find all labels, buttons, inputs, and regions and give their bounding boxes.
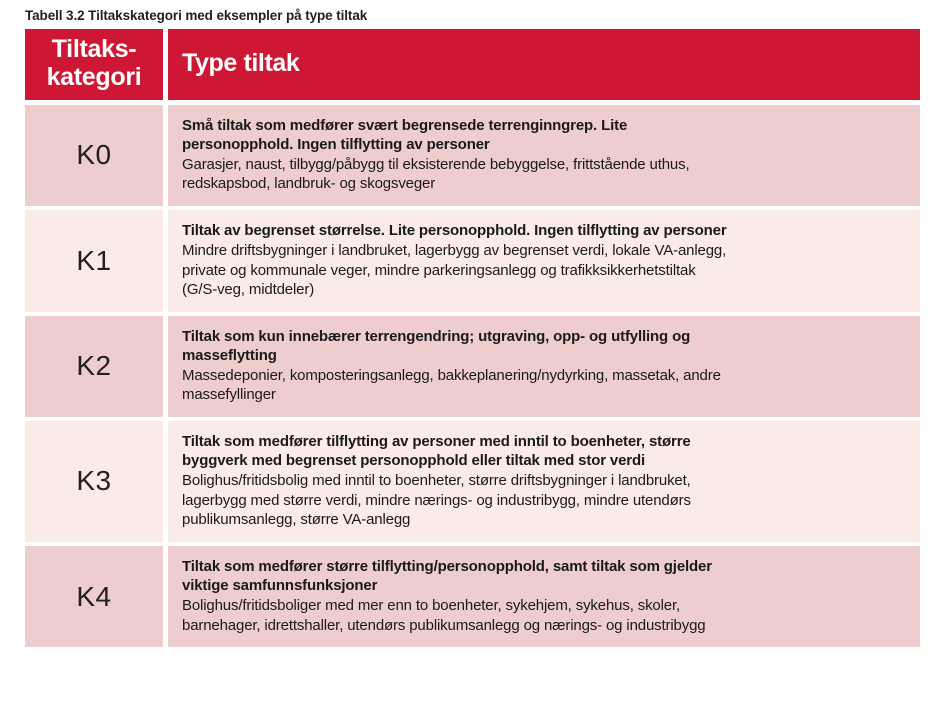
category-label: K0 (76, 141, 111, 169)
row-description-line: publikumsanlegg, større VA-anlegg (182, 510, 906, 530)
row-title: Tiltak av begrenset størrelse. Lite pers… (182, 221, 906, 240)
row-title-line: Tiltak som medfører tilflytting av perso… (182, 432, 906, 451)
table-row: K0Små tiltak som medfører svært begrense… (25, 105, 920, 206)
row-title-line: viktige samfunnsfunksjoner (182, 576, 906, 595)
row-description: Massedeponier, komposteringsanlegg, bakk… (182, 366, 906, 405)
row-title: Små tiltak som medfører svært begrensede… (182, 116, 906, 154)
category-label: K4 (76, 583, 111, 611)
table-row: K2Tiltak som kun innebærer terrengendrin… (25, 316, 920, 417)
row-title-line: Tiltak av begrenset størrelse. Lite pers… (182, 221, 906, 240)
row-description-line: Mindre driftsbygninger i landbruket, lag… (182, 241, 906, 261)
row-description: Bolighus/fritidsboliger med mer enn to b… (182, 596, 906, 635)
row-title-line: Tiltak som kun innebærer terrengendring;… (182, 327, 906, 346)
row-description-line: Garasjer, naust, tilbygg/påbygg til eksi… (182, 155, 906, 175)
cell-type-tiltak: Tiltak av begrenset størrelse. Lite pers… (168, 210, 920, 312)
cell-category: K4 (25, 546, 163, 647)
row-title-line: masseflytting (182, 346, 906, 365)
row-description-line: massefyllinger (182, 385, 906, 405)
row-description-line: barnehager, idrettshaller, utendørs publ… (182, 616, 906, 636)
table-caption: Tabell 3.2 Tiltakskategori med eksempler… (25, 8, 367, 23)
header-category-line2: kategori (47, 63, 142, 91)
row-description-line: (G/S-veg, midtdeler) (182, 280, 906, 300)
row-description-line: Bolighus/fritidsbolig med inntil to boen… (182, 471, 906, 491)
row-title-line: personopphold. Ingen tilflytting av pers… (182, 135, 906, 154)
header-cell-category: Tiltaks- kategori (25, 29, 163, 100)
cell-category: K2 (25, 316, 163, 417)
row-description-line: Massedeponier, komposteringsanlegg, bakk… (182, 366, 906, 386)
row-description-line: redskapsbod, landbruk- og skogsveger (182, 174, 906, 194)
row-title: Tiltak som medfører større tilflytting/p… (182, 557, 906, 595)
row-description: Bolighus/fritidsbolig med inntil to boen… (182, 471, 906, 530)
row-title: Tiltak som medfører tilflytting av perso… (182, 432, 906, 470)
cell-type-tiltak: Små tiltak som medfører svært begrensede… (168, 105, 920, 206)
cell-type-tiltak: Tiltak som medfører tilflytting av perso… (168, 421, 920, 542)
document-page: Tabell 3.2 Tiltakskategori med eksempler… (0, 0, 936, 704)
header-category-line1: Tiltaks- (52, 35, 137, 63)
header-type-label: Type tiltak (182, 49, 299, 78)
table-row: K1Tiltak av begrenset størrelse. Lite pe… (25, 210, 920, 312)
row-description-line: Bolighus/fritidsboliger med mer enn to b… (182, 596, 906, 616)
table-row: K4Tiltak som medfører større tilflytting… (25, 546, 920, 647)
category-label: K3 (76, 467, 111, 495)
row-description: Garasjer, naust, tilbygg/påbygg til eksi… (182, 155, 906, 194)
category-label: K1 (76, 247, 111, 275)
cell-category: K1 (25, 210, 163, 312)
table-row: K3Tiltak som medfører tilflytting av per… (25, 421, 920, 542)
row-title-line: Små tiltak som medfører svært begrensede… (182, 116, 906, 135)
row-title-line: Tiltak som medfører større tilflytting/p… (182, 557, 906, 576)
cell-type-tiltak: Tiltak som medfører større tilflytting/p… (168, 546, 920, 647)
cell-category: K3 (25, 421, 163, 542)
table-body: K0Små tiltak som medfører svært begrense… (25, 105, 920, 648)
row-description-line: private og kommunale veger, mindre parke… (182, 261, 906, 281)
row-title-line: byggverk med begrenset personopphold ell… (182, 451, 906, 470)
cell-type-tiltak: Tiltak som kun innebærer terrengendring;… (168, 316, 920, 417)
row-description-line: lagerbygg med større verdi, mindre nærin… (182, 491, 906, 511)
cell-category: K0 (25, 105, 163, 206)
row-title: Tiltak som kun innebærer terrengendring;… (182, 327, 906, 365)
row-description: Mindre driftsbygninger i landbruket, lag… (182, 241, 906, 300)
table-header-row: Tiltaks- kategori Type tiltak (25, 29, 920, 100)
category-label: K2 (76, 352, 111, 380)
tiltakskategori-table: Tiltaks- kategori Type tiltak K0Små tilt… (25, 29, 920, 647)
header-cell-type: Type tiltak (168, 29, 920, 100)
